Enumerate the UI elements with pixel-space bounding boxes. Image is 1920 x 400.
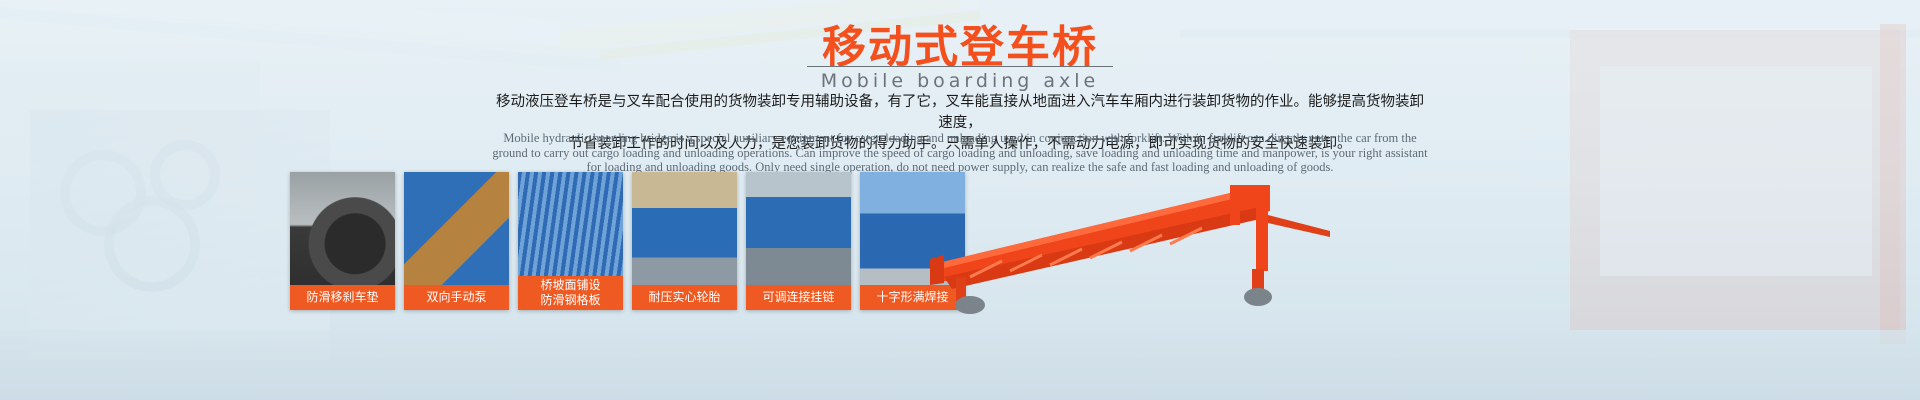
feature-thumbnail[interactable]: 桥坡面铺设 防滑钢格板 xyxy=(518,172,623,310)
feature-thumbnail[interactable]: 耐压实心轮胎 xyxy=(632,172,737,310)
feature-caption: 防滑移刹车垫 xyxy=(290,285,395,310)
description-english: Mobile hydraulic boarding bridge is a sp… xyxy=(490,131,1430,175)
page-subtitle-wrap: Mobile boarding axle xyxy=(0,66,1920,92)
feature-thumbnail[interactable]: 可调连接挂链 xyxy=(746,172,851,310)
feature-caption-line-1: 桥坡面铺设 xyxy=(520,278,621,293)
description-chinese-line-1: 移动液压登车桥是与叉车配合使用的货物装卸专用辅助设备，有了它，叉车能直接从地面进… xyxy=(495,92,1425,134)
page-subtitle: Mobile boarding axle xyxy=(807,66,1114,92)
banner-content: 移动式登车桥 Mobile boarding axle 移动液压登车桥是与叉车配… xyxy=(0,0,1920,400)
feature-thumbnail-strip: 防滑移刹车垫 双向手动泵 桥坡面铺设 防滑钢格板 耐压实心轮胎 可调连接挂链 十… xyxy=(290,172,965,310)
feature-thumbnail[interactable]: 防滑移刹车垫 xyxy=(290,172,395,310)
feature-caption: 双向手动泵 xyxy=(404,285,509,310)
feature-caption: 耐压实心轮胎 xyxy=(632,285,737,310)
feature-caption-line-2: 防滑钢格板 xyxy=(520,293,621,308)
feature-thumbnail[interactable]: 双向手动泵 xyxy=(404,172,509,310)
mobile-boarding-ramp-product xyxy=(930,185,1350,315)
feature-caption: 可调连接挂链 xyxy=(746,285,851,310)
feature-caption: 桥坡面铺设 防滑钢格板 xyxy=(518,276,623,310)
